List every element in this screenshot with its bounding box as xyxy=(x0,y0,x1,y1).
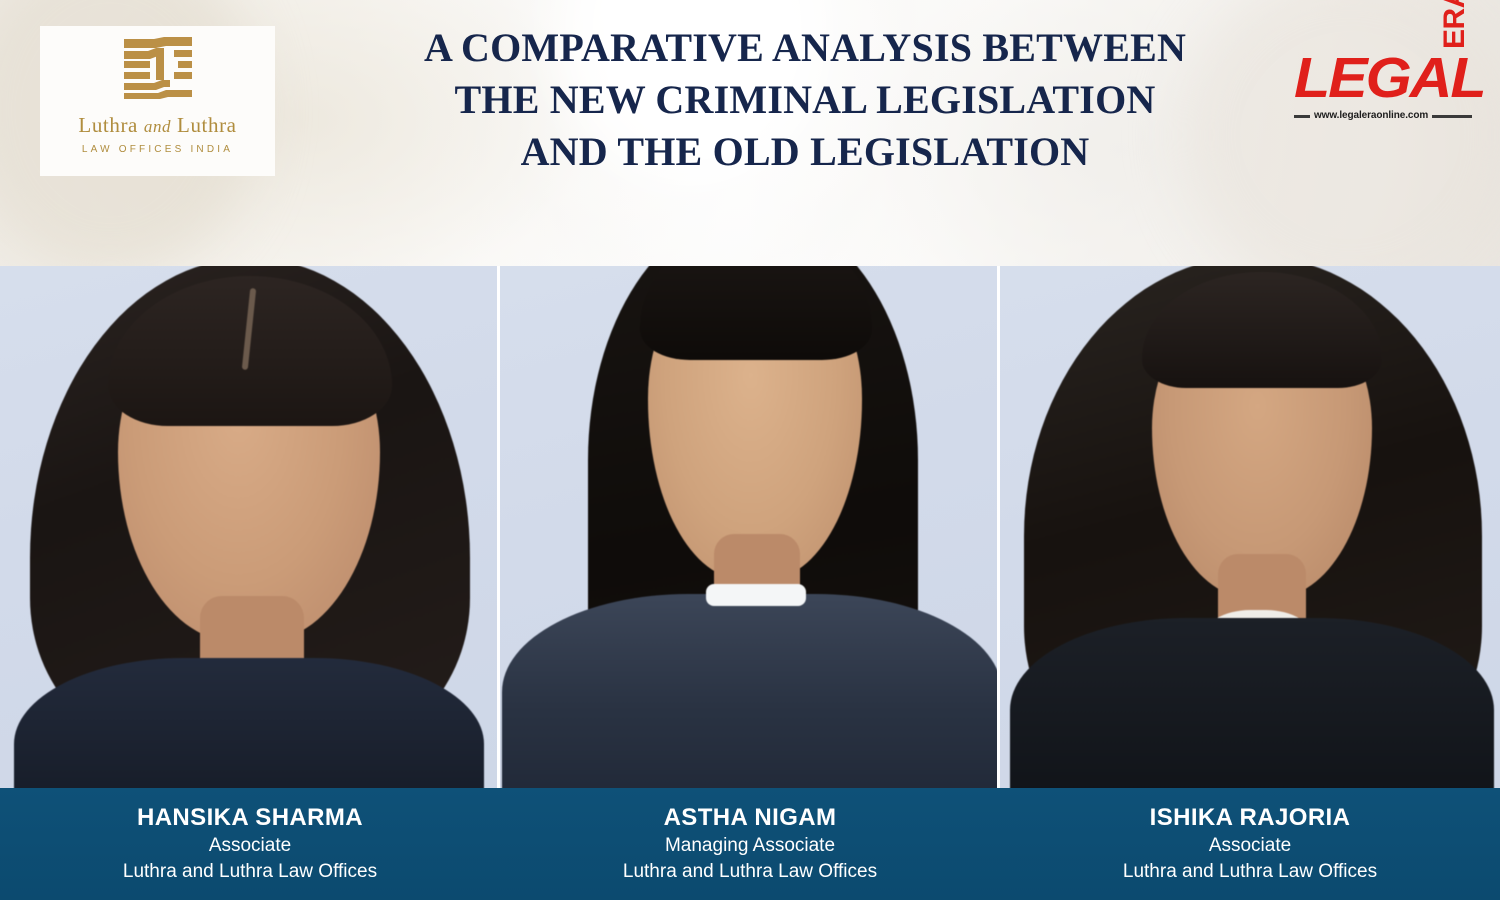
page-title-line-1: A COMPARATIVE ANALYSIS BETWEEN xyxy=(330,22,1280,74)
person-role: Associate xyxy=(1209,833,1291,859)
caption-hansika-sharma: HANSIKA SHARMA Associate Luthra and Luth… xyxy=(0,788,500,900)
portrait-figure xyxy=(1000,266,1500,788)
luthra-monogram-icon xyxy=(122,37,194,99)
person-role: Managing Associate xyxy=(665,833,835,859)
person-firm: Luthra and Luthra Law Offices xyxy=(623,859,877,885)
portrait-ishika-rajoria xyxy=(1000,266,1500,788)
portrait-figure xyxy=(0,266,497,788)
publisher-url-row: www.legaleraonline.com xyxy=(1294,110,1472,122)
firm-logo[interactable]: Luthra and Luthra LAW OFFICES INDIA xyxy=(40,26,275,176)
firm-wordmark: Luthra and Luthra xyxy=(78,113,236,138)
page-title-line-3: AND THE OLD LEGISLATION xyxy=(330,126,1280,178)
person-firm: Luthra and Luthra Law Offices xyxy=(123,859,377,885)
page-title: A COMPARATIVE ANALYSIS BETWEEN THE NEW C… xyxy=(330,22,1280,178)
publisher-rule-left xyxy=(1294,115,1310,118)
firm-wordmark-secondary: Luthra xyxy=(177,113,237,137)
portrait-strip xyxy=(0,266,1500,788)
person-name: ASTHA NIGAM xyxy=(664,803,837,833)
banner-header: Luthra and Luthra LAW OFFICES INDIA A CO… xyxy=(0,0,1500,266)
person-role: Associate xyxy=(209,833,291,859)
person-name: ISHIKA RAJORIA xyxy=(1150,803,1351,833)
portrait-astha-nigam xyxy=(497,266,1000,788)
caption-bar: HANSIKA SHARMA Associate Luthra and Luth… xyxy=(0,788,1500,900)
firm-wordmark-conjunction: and xyxy=(144,117,171,136)
caption-ishika-rajoria: ISHIKA RAJORIA Associate Luthra and Luth… xyxy=(1000,788,1500,900)
publisher-rule-right xyxy=(1432,115,1472,118)
caption-astha-nigam: ASTHA NIGAM Managing Associate Luthra an… xyxy=(500,788,1000,900)
page-title-line-2: THE NEW CRIMINAL LEGISLATION xyxy=(330,74,1280,126)
portrait-hansika-sharma xyxy=(0,266,497,788)
publisher-logo-wordmark: LEGAL ERA xyxy=(1294,47,1472,110)
firm-tagline: LAW OFFICES INDIA xyxy=(82,144,233,155)
blazer-shape xyxy=(502,594,1000,788)
article-banner: Luthra and Luthra LAW OFFICES INDIA A CO… xyxy=(0,0,1500,900)
portrait-figure xyxy=(500,266,997,788)
publisher-logo[interactable]: LEGAL ERA www.legaleraonline.com xyxy=(1294,47,1472,132)
blazer-shape xyxy=(14,658,484,788)
blazer-shape xyxy=(1010,618,1494,788)
person-name: HANSIKA SHARMA xyxy=(137,803,363,833)
firm-wordmark-primary: Luthra xyxy=(78,113,138,137)
publisher-url[interactable]: www.legaleraonline.com xyxy=(1314,110,1428,122)
publisher-logo-primary: LEGAL xyxy=(1294,47,1484,110)
person-firm: Luthra and Luthra Law Offices xyxy=(1123,859,1377,885)
collar-shape xyxy=(706,584,806,606)
fringe-shape xyxy=(640,266,872,360)
publisher-logo-secondary: ERA xyxy=(1440,0,1470,49)
